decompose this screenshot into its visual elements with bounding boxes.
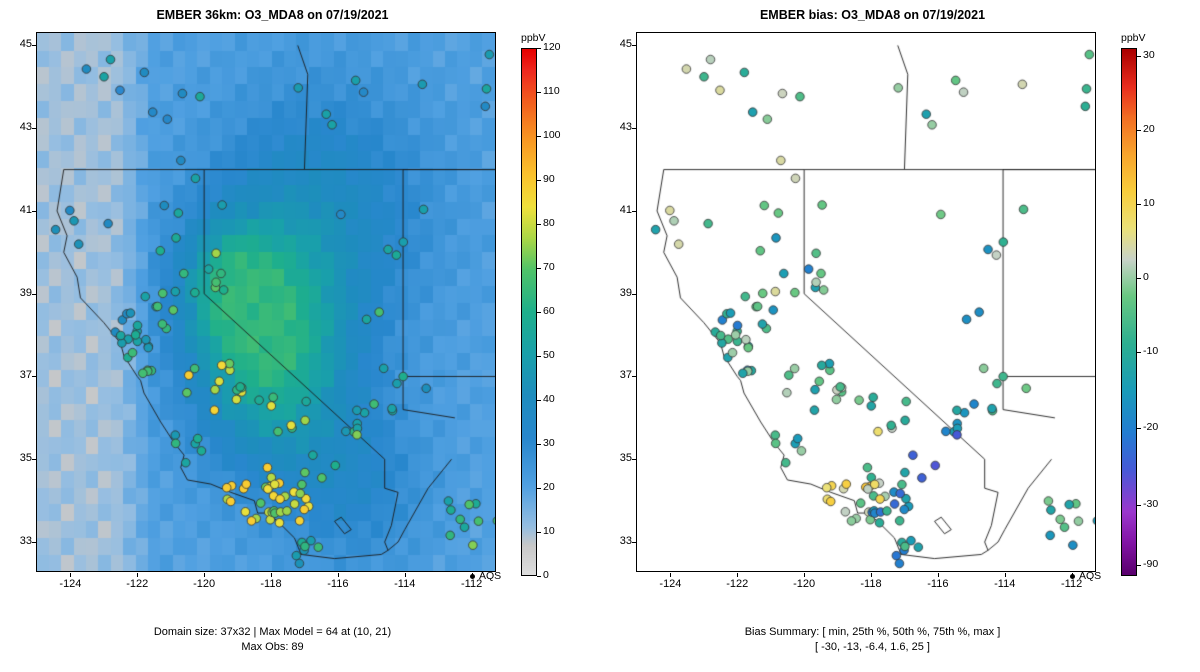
colorbar-tick xyxy=(1137,428,1141,429)
left-panel-title: EMBER 36km: O3_MDA8 on 07/19/2021 xyxy=(0,8,545,22)
colorbar-tick xyxy=(537,576,541,577)
colorbar-tick-label: 0 xyxy=(1143,271,1149,283)
colorbar-tick-label: 0 xyxy=(543,569,549,581)
y-tick-mark xyxy=(632,128,636,129)
colorbar-tick xyxy=(1137,130,1141,131)
figure-root: EMBER 36km: O3_MDA8 on 07/19/2021 333537… xyxy=(0,0,1200,672)
x-tick-mark xyxy=(338,573,339,577)
colorbar-tick-label: -90 xyxy=(1143,558,1158,570)
y-tick-mark xyxy=(32,45,36,46)
y-tick-mark xyxy=(32,376,36,377)
colorbar-tick-label: 110 xyxy=(543,85,560,97)
colorbar-tick-label: 20 xyxy=(1143,123,1155,135)
x-tick-mark xyxy=(70,573,71,577)
colorbar-tick xyxy=(1137,352,1141,353)
colorbar-tick-label: 30 xyxy=(543,437,555,449)
colorbar-tick xyxy=(1137,56,1141,57)
colorbar-tick xyxy=(537,224,541,225)
aqs-legend-label-left: AQS xyxy=(479,570,501,582)
x-tick-mark xyxy=(871,573,872,577)
x-tick-label: -120 xyxy=(184,578,224,590)
colorbar-tick xyxy=(537,92,541,93)
y-tick-mark xyxy=(632,294,636,295)
colorbar-tick xyxy=(1137,505,1141,506)
colorbar-tick-label: 50 xyxy=(543,349,555,361)
left-caption-line1: Domain size: 37x32 | Max Model = 64 at (… xyxy=(0,626,545,638)
colorbar-tick-label: -10 xyxy=(1143,345,1158,357)
x-tick-mark xyxy=(670,573,671,577)
right-colorbar-title: ppbV xyxy=(1121,32,1146,44)
y-tick-mark xyxy=(32,128,36,129)
y-tick-label: 35 xyxy=(0,452,32,464)
y-tick-label: 37 xyxy=(600,369,632,381)
colorbar-tick-label: 90 xyxy=(543,173,555,185)
colorbar-tick xyxy=(537,400,541,401)
y-tick-mark xyxy=(632,459,636,460)
colorbar-tick xyxy=(537,312,541,313)
model-field-canvas xyxy=(37,33,495,571)
x-tick-label: -114 xyxy=(985,578,1025,590)
x-tick-label: -120 xyxy=(784,578,824,590)
x-tick-mark xyxy=(204,573,205,577)
colorbar-tick-label: 30 xyxy=(1143,49,1155,61)
colorbar-tick xyxy=(537,356,541,357)
x-tick-label: -122 xyxy=(117,578,157,590)
right-caption-line2: [ -30, -13, -6.4, 1.6, 25 ] xyxy=(600,641,1145,653)
colorbar-tick-label: -30 xyxy=(1143,498,1158,510)
y-tick-mark xyxy=(632,45,636,46)
x-tick-label: -116 xyxy=(318,578,358,590)
left-colorbar-title: ppbV xyxy=(521,32,546,44)
bias-scatter-canvas xyxy=(637,33,1095,571)
left-colorbar-gradient xyxy=(521,48,537,576)
x-tick-mark xyxy=(137,573,138,577)
colorbar-tick-label: 40 xyxy=(543,393,555,405)
x-tick-label: -124 xyxy=(650,578,690,590)
right-panel-title: EMBER bias: O3_MDA8 on 07/19/2021 xyxy=(600,8,1145,22)
colorbar-tick xyxy=(537,488,541,489)
y-tick-mark xyxy=(32,294,36,295)
colorbar-tick xyxy=(1137,565,1141,566)
colorbar-tick xyxy=(537,48,541,49)
y-tick-label: 41 xyxy=(600,204,632,216)
x-tick-mark xyxy=(938,573,939,577)
x-tick-label: -122 xyxy=(717,578,757,590)
y-tick-label: 45 xyxy=(0,38,32,50)
colorbar-tick-label: 10 xyxy=(1143,197,1155,209)
colorbar-tick xyxy=(537,444,541,445)
y-tick-mark xyxy=(32,542,36,543)
colorbar-tick-label: 60 xyxy=(543,305,555,317)
right-caption-line1: Bias Summary: [ min, 25th %, 50th %, 75t… xyxy=(600,626,1145,638)
aqs-legend-label-right: AQS xyxy=(1079,570,1101,582)
x-tick-label: -114 xyxy=(385,578,425,590)
y-tick-mark xyxy=(632,211,636,212)
right-panel: EMBER bias: O3_MDA8 on 07/19/2021 333537… xyxy=(600,0,1200,672)
x-tick-label: -118 xyxy=(251,578,291,590)
y-tick-label: 39 xyxy=(600,287,632,299)
colorbar-tick xyxy=(537,136,541,137)
x-tick-label: -118 xyxy=(851,578,891,590)
left-caption-line2: Max Obs: 89 xyxy=(0,641,545,653)
y-tick-mark xyxy=(32,459,36,460)
x-tick-mark xyxy=(1005,573,1006,577)
aqs-legend-dot-right xyxy=(1070,574,1075,579)
y-tick-label: 35 xyxy=(600,452,632,464)
x-tick-mark xyxy=(405,573,406,577)
colorbar-tick-label: 120 xyxy=(543,41,561,53)
aqs-legend-dot-left xyxy=(470,574,475,579)
y-tick-label: 45 xyxy=(600,38,632,50)
right-colorbar-gradient xyxy=(1121,48,1137,576)
y-tick-mark xyxy=(32,211,36,212)
colorbar-tick xyxy=(537,268,541,269)
y-tick-label: 37 xyxy=(0,369,32,381)
right-map-plot xyxy=(636,32,1096,572)
colorbar-tick-label: 70 xyxy=(543,261,555,273)
x-tick-mark xyxy=(271,573,272,577)
y-tick-mark xyxy=(632,376,636,377)
y-tick-label: 39 xyxy=(0,287,32,299)
colorbar-tick xyxy=(1137,278,1141,279)
colorbar-tick xyxy=(1137,204,1141,205)
y-tick-mark xyxy=(632,542,636,543)
colorbar-tick-label: 20 xyxy=(543,481,555,493)
x-tick-label: -124 xyxy=(50,578,90,590)
x-tick-mark xyxy=(804,573,805,577)
colorbar-tick-label: 80 xyxy=(543,217,555,229)
y-tick-label: 33 xyxy=(600,535,632,547)
colorbar-tick-label: 10 xyxy=(543,525,555,537)
x-tick-label: -116 xyxy=(918,578,958,590)
y-tick-label: 43 xyxy=(0,121,32,133)
y-tick-label: 43 xyxy=(600,121,632,133)
left-panel: EMBER 36km: O3_MDA8 on 07/19/2021 333537… xyxy=(0,0,600,672)
colorbar-tick xyxy=(537,180,541,181)
left-map-plot xyxy=(36,32,496,572)
colorbar-tick-label: -20 xyxy=(1143,421,1158,433)
colorbar-tick-label: 100 xyxy=(543,129,561,141)
y-tick-label: 41 xyxy=(0,204,32,216)
x-tick-mark xyxy=(737,573,738,577)
colorbar-tick xyxy=(537,532,541,533)
y-tick-label: 33 xyxy=(0,535,32,547)
